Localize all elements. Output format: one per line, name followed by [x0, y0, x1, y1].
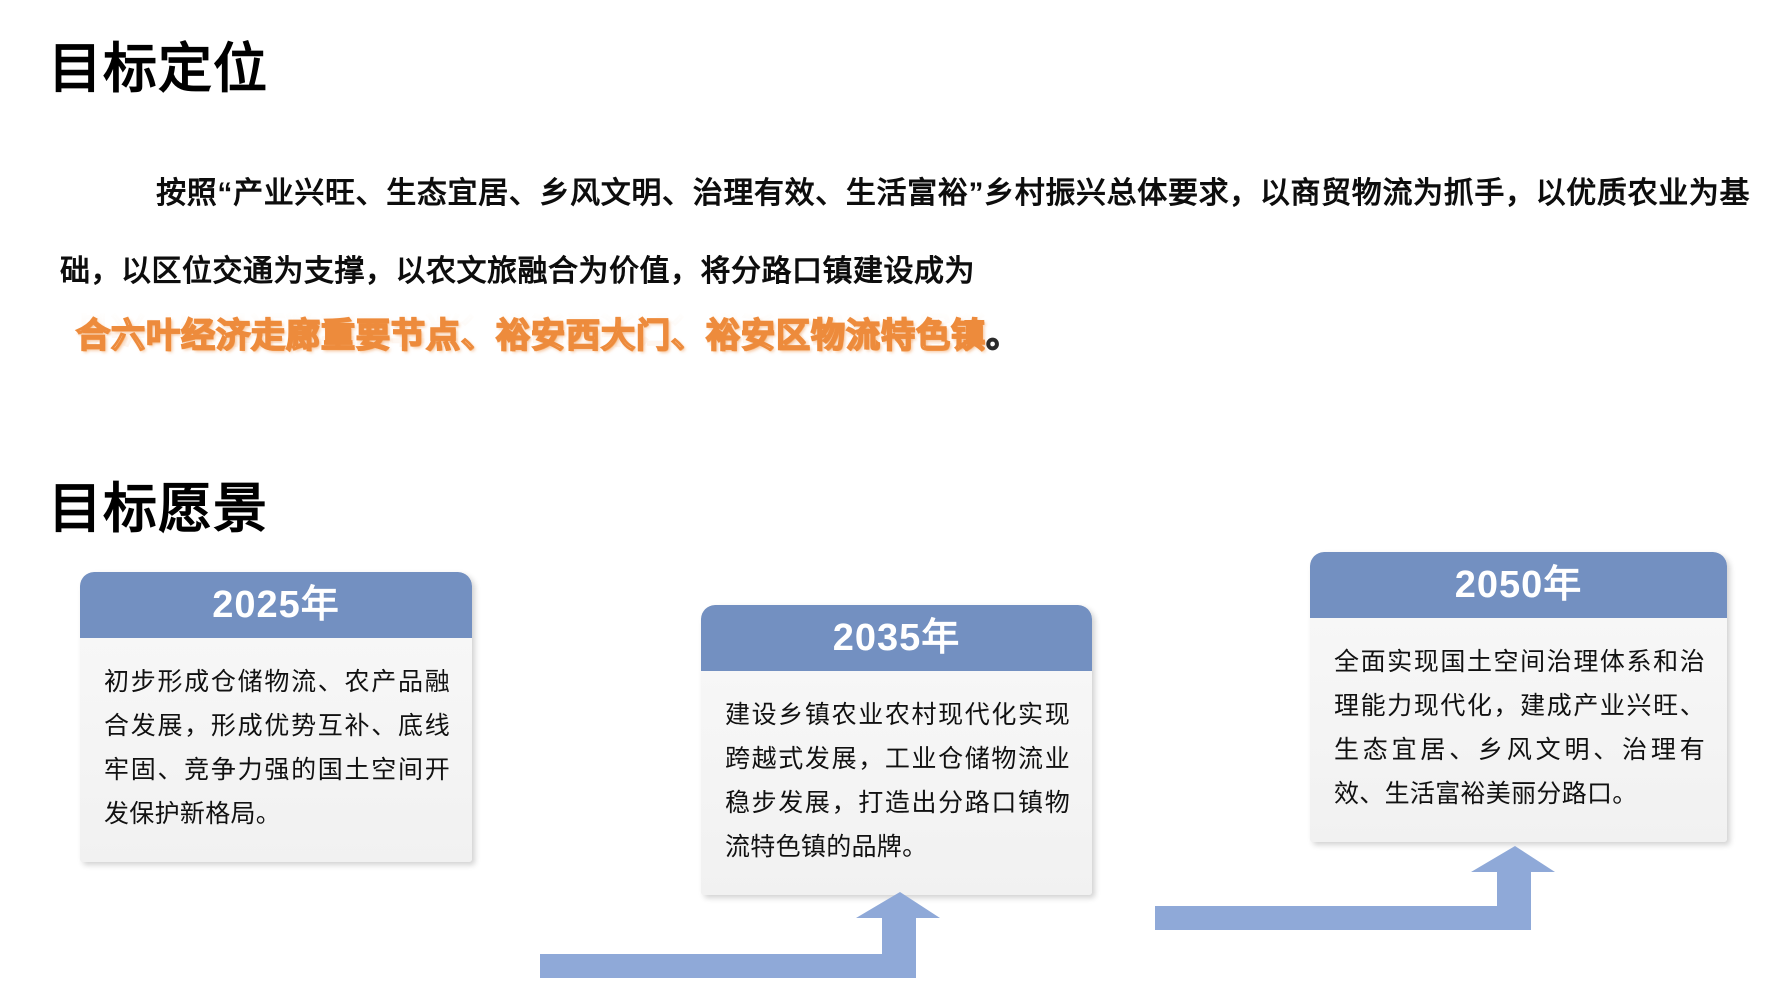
- highlight-sentence-wrap: 合六叶经济走廊重要节点、裕安西大门、裕安区物流特色镇 合六叶经济走廊重要节点、裕…: [76, 308, 1276, 364]
- vision-card-2025-header: 2025年: [80, 572, 472, 638]
- slide-root: 目标定位 按照“产业兴旺、生态宜居、乡风文明、治理有效、生活富裕”乡村振兴总体要…: [0, 0, 1792, 1008]
- vision-card-2035-header: 2035年: [701, 605, 1092, 671]
- vision-card-2035-year: 2035年: [833, 619, 961, 657]
- paragraph-text: 按照“产业兴旺、生态宜居、乡风文明、治理有效、生活富裕”乡村振兴总体要求，以商贸…: [60, 177, 1750, 288]
- vision-card-2025-body: 初步形成仓储物流、农产品融合发展，形成优势互补、底线牢固、竞争力强的国土空间开发…: [80, 638, 472, 862]
- positioning-paragraph: 按照“产业兴旺、生态宜居、乡风文明、治理有效、生活富裕”乡村振兴总体要求，以商贸…: [60, 155, 1750, 311]
- vision-card-2025: 2025年 初步形成仓储物流、农产品融合发展，形成优势互补、底线牢固、竞争力强的…: [80, 572, 472, 862]
- vision-card-2050: 2050年 全面实现国土空间治理体系和治理能力现代化，建成产业兴旺、生态宜居、乡…: [1310, 552, 1727, 842]
- arrow-2025-to-2035-icon: [540, 898, 940, 994]
- page-title-vision: 目标愿景: [48, 482, 268, 536]
- vision-card-2035-body: 建设乡镇农业农村现代化实现跨越式发展，工业仓储物流业稳步发展，打造出分路口镇物流…: [701, 671, 1092, 895]
- highlight-sentence-text: 合六叶经济走廊重要节点、裕安西大门、裕安区物流特色镇: [76, 317, 986, 355]
- highlight-sentence-period: 。: [986, 317, 1021, 355]
- vision-card-2025-year: 2025年: [212, 586, 340, 624]
- highlight-sentence: 合六叶经济走廊重要节点、裕安西大门、裕安区物流特色镇。: [76, 308, 1021, 357]
- vision-card-2050-year: 2050年: [1455, 566, 1583, 604]
- arrow-2035-to-2050-icon: [1155, 868, 1555, 964]
- page-title-positioning: 目标定位: [48, 42, 268, 96]
- vision-card-2050-header: 2050年: [1310, 552, 1727, 618]
- vision-card-2035: 2035年 建设乡镇农业农村现代化实现跨越式发展，工业仓储物流业稳步发展，打造出…: [701, 605, 1092, 895]
- vision-card-2050-body: 全面实现国土空间治理体系和治理能力现代化，建成产业兴旺、生态宜居、乡风文明、治理…: [1310, 618, 1727, 842]
